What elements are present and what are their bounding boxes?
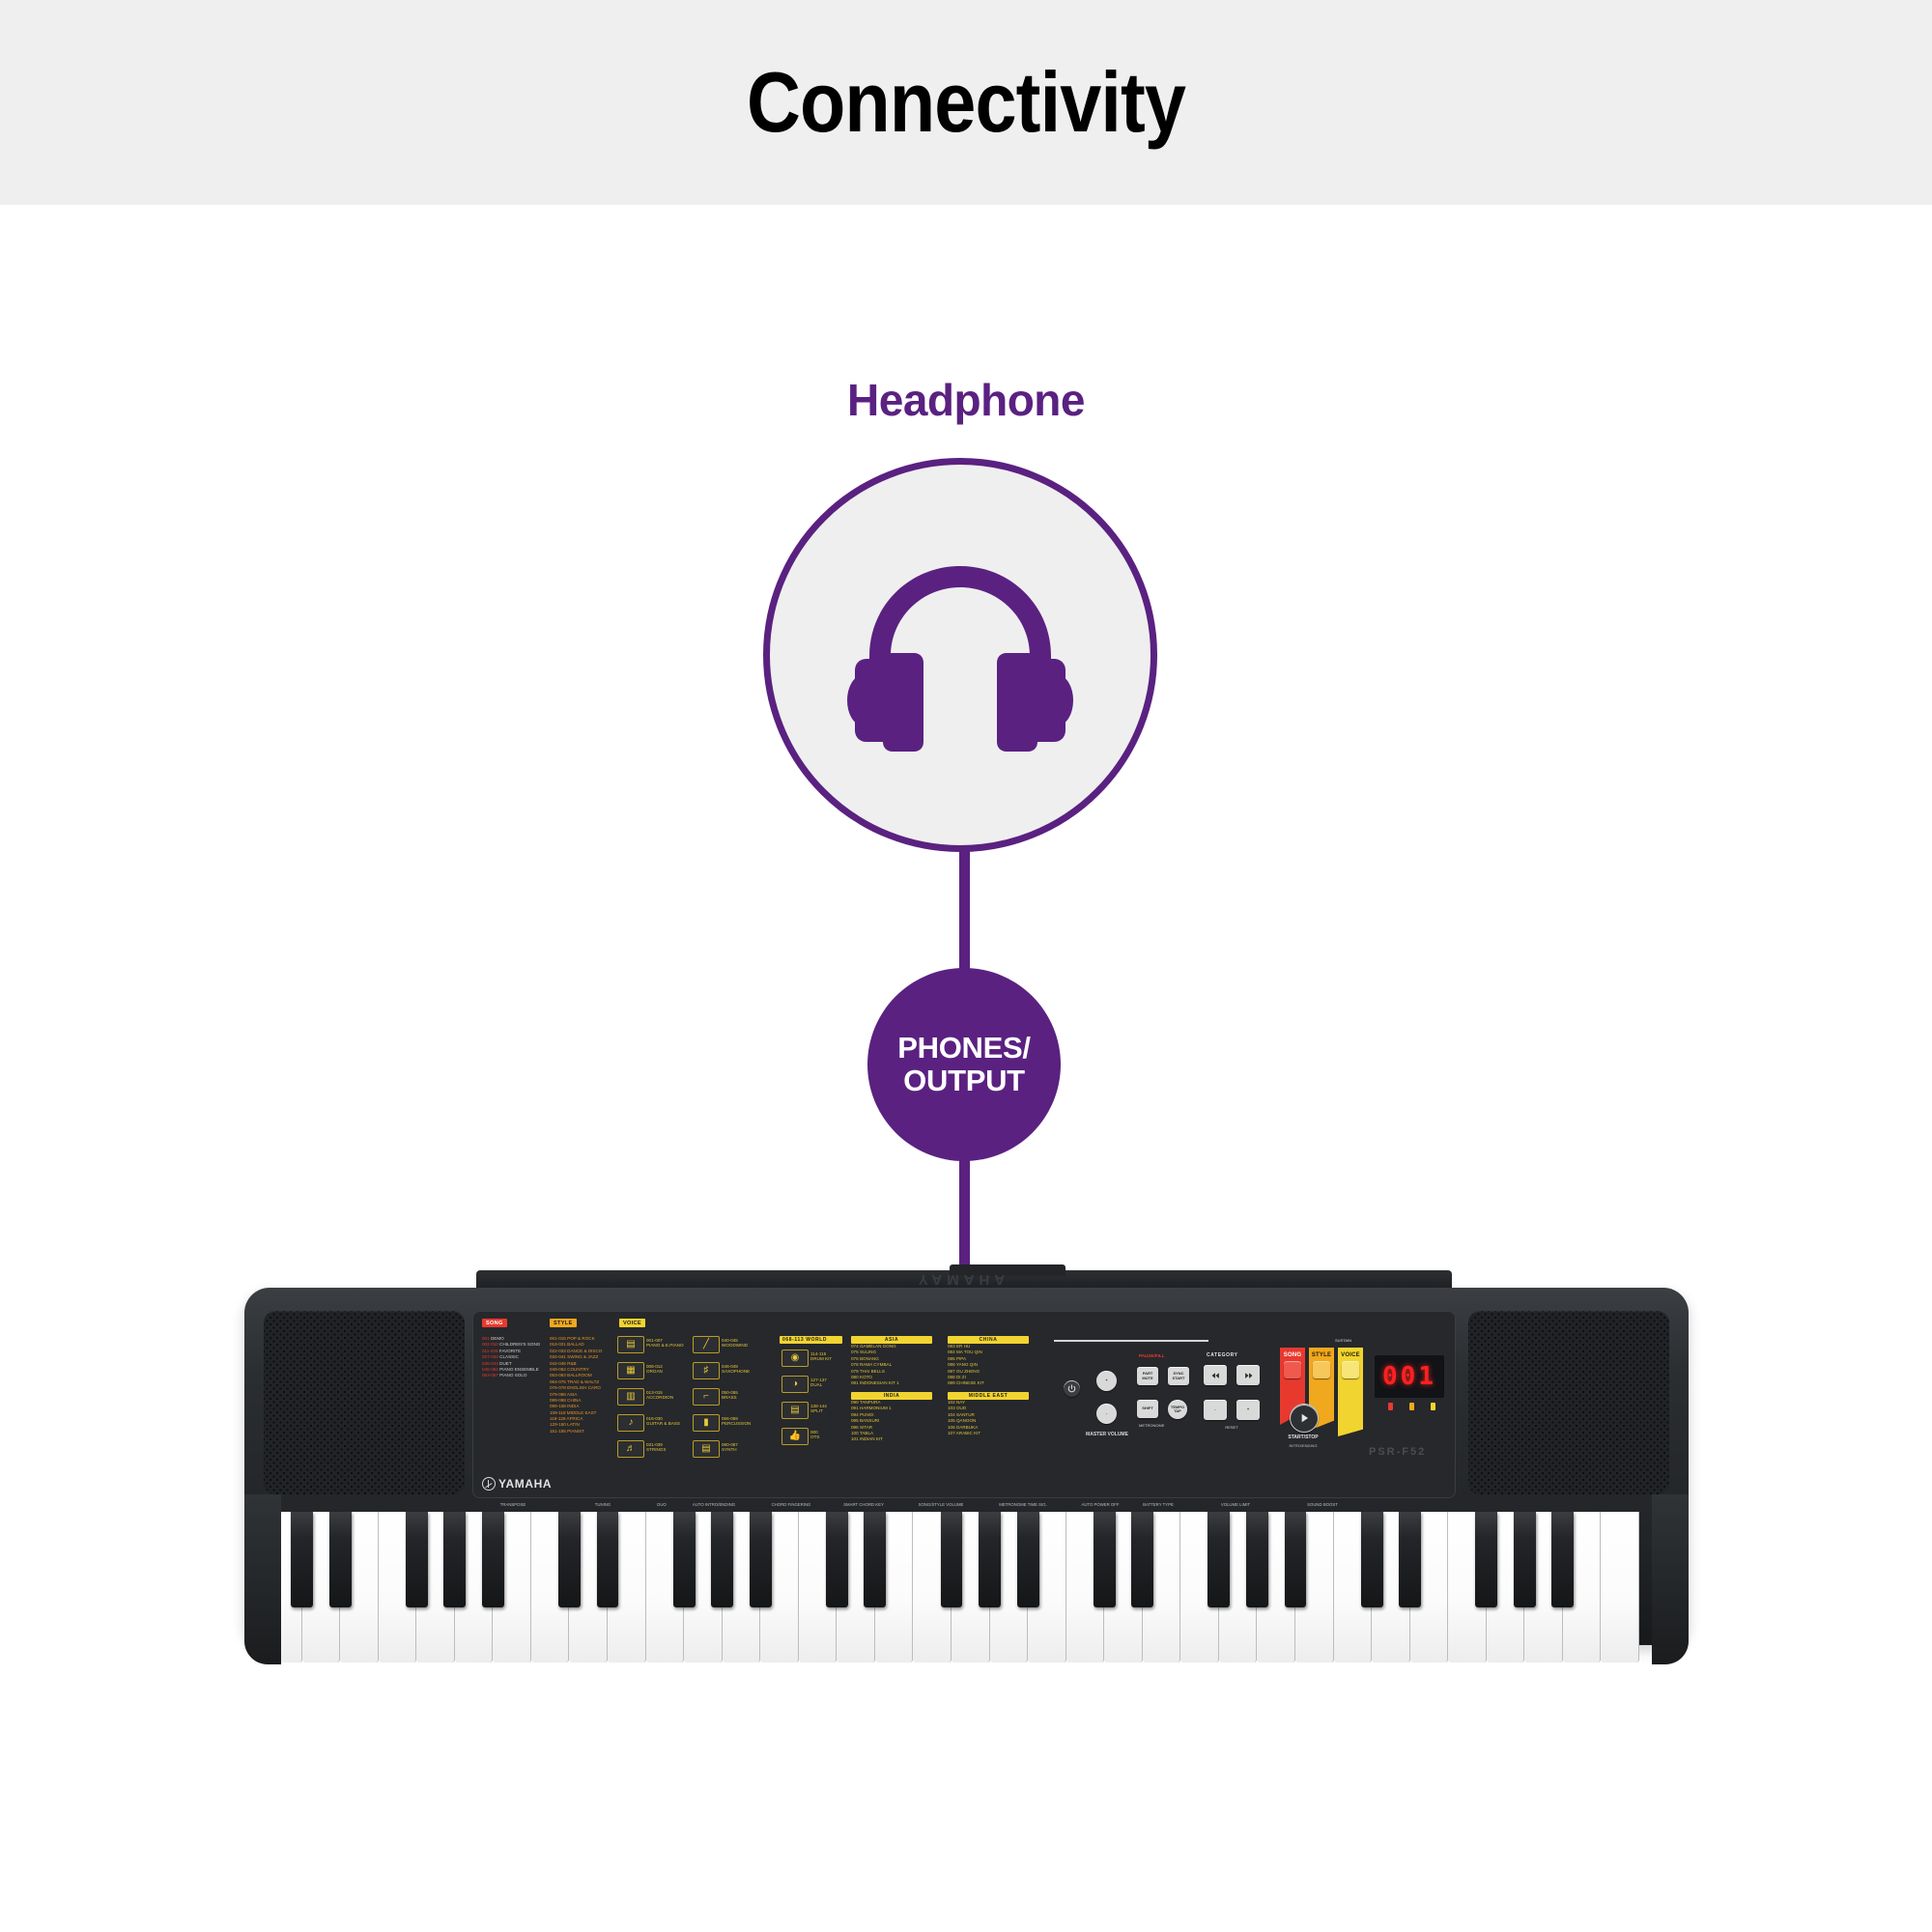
list-item-number: 053-063 <box>550 1373 566 1378</box>
world-voice-item: 089 CHINESE KIT <box>948 1380 1037 1386</box>
world-group: CHINA083 ER HU084 MA TOU QIN085 PIPA086 … <box>948 1336 1037 1387</box>
voice-category-name: ORGAN <box>646 1369 663 1374</box>
black-key[interactable] <box>750 1512 772 1607</box>
list-item-name: DEMO <box>490 1336 504 1341</box>
sync-start-button[interactable]: SYNC START <box>1168 1367 1189 1385</box>
icon-glyph: ♪ <box>629 1418 634 1428</box>
list-item-name: CLASSIC <box>498 1354 519 1359</box>
icon-glyph: ▤ <box>701 1444 710 1454</box>
list-item-number: 079-088 <box>550 1392 566 1397</box>
voice-category-label: 046-049SAXOPHONE <box>722 1364 750 1375</box>
voice-tab-label: VOICE <box>1338 1352 1363 1358</box>
world-voice-item: 107 ARABIC KIT <box>948 1431 1037 1436</box>
sustain-label: SUSTAIN <box>1335 1338 1351 1343</box>
headphone-node-circle[interactable] <box>763 458 1157 852</box>
icon-glyph: ▤ <box>626 1340 635 1350</box>
function-label: VOLUME LIMIT <box>1194 1503 1277 1508</box>
start-stop-button[interactable] <box>1290 1404 1319 1433</box>
panel-tag-voice: VOICE <box>619 1319 645 1327</box>
connectivity-diagram: Headphone PHONES/ OUTPUT YAMAHA <box>0 205 1932 1932</box>
play-icon <box>1300 1413 1309 1423</box>
black-key[interactable] <box>1207 1512 1230 1607</box>
synth-icon: ▤ <box>693 1440 720 1458</box>
voice-category-label: 031-039STRINGS <box>646 1442 666 1453</box>
led-display-value: 001 <box>1382 1362 1436 1391</box>
function-label: AUTO INTRO/ENDING <box>672 1503 755 1508</box>
black-key[interactable] <box>1131 1512 1153 1607</box>
rear-yamaha-logo: YAMAHA <box>476 1271 1452 1288</box>
list-item-number: 022-033 <box>550 1349 566 1353</box>
function-label: SMART CHORD KEY <box>822 1503 905 1508</box>
badge-line-2: OUTPUT <box>903 1065 1025 1097</box>
voice-category-label: 127-137DUAL <box>810 1378 827 1388</box>
shift-button[interactable]: SHIFT <box>1137 1400 1158 1418</box>
category-prev-button[interactable] <box>1204 1365 1227 1385</box>
drumkit-icon: ◉ <box>781 1350 809 1367</box>
thumbsup-icon: 👍 <box>781 1428 809 1445</box>
world-group-title: ASIA <box>851 1336 932 1344</box>
list-item-name: POP & ROCK <box>566 1336 595 1341</box>
power-icon <box>1067 1384 1076 1393</box>
black-key[interactable] <box>1285 1512 1307 1607</box>
black-key[interactable] <box>291 1512 313 1607</box>
accordion-icon: ▥ <box>617 1388 644 1406</box>
icon-glyph: ╱ <box>703 1340 709 1350</box>
world-group-title: CHINA <box>948 1336 1029 1344</box>
master-volume-label: MASTER VOLUME <box>1084 1433 1130 1437</box>
panel-tag-song: SONG <box>482 1319 507 1327</box>
world-group-title: INDIA <box>851 1392 932 1400</box>
voice-category-label: 001-007PIANO & E.PIANO <box>646 1338 684 1349</box>
function-label: TRANSPOSE <box>471 1503 554 1508</box>
speaker-grille-left <box>264 1311 465 1494</box>
list-item-number: 035-044 <box>482 1361 498 1366</box>
list-item-name: BALLAD <box>566 1342 584 1347</box>
white-key[interactable] <box>1601 1512 1639 1662</box>
list-item-name: PIANO SOLO <box>498 1373 527 1378</box>
voice-button[interactable] <box>1342 1361 1359 1378</box>
panel-divider <box>1054 1340 1208 1342</box>
icon-glyph: ▥ <box>626 1392 635 1402</box>
led-indicator-voice <box>1431 1403 1435 1410</box>
list-item-name: DANCE & DISCO <box>566 1349 603 1353</box>
song-button[interactable] <box>1284 1361 1301 1378</box>
voice-category-label: 000OTS <box>810 1430 819 1440</box>
keyboard-cheek-left <box>244 1494 281 1664</box>
list-item-name: COUNTRY <box>566 1367 589 1372</box>
power-button[interactable] <box>1064 1380 1080 1397</box>
voice-category-name: DUAL <box>810 1382 827 1387</box>
icon-glyph: ♯ <box>704 1366 709 1376</box>
part-mute-button[interactable]: PART MUTE <box>1137 1367 1158 1385</box>
intro-ending-label: INTRO/ENDING <box>1272 1443 1334 1448</box>
list-item-number: 034-041 <box>550 1354 566 1359</box>
black-key[interactable] <box>558 1512 581 1607</box>
icon-glyph: ▦ <box>626 1366 635 1376</box>
voice-category-name: SAXOPHONE <box>722 1369 750 1374</box>
split-icon: ▤ <box>781 1402 809 1419</box>
voice-category-name: GUITAR & BASS <box>646 1421 680 1426</box>
icon-glyph: ▮ <box>703 1418 709 1428</box>
list-item: 053-057 PIANO SOLO <box>482 1373 540 1378</box>
list-item-name: R&B <box>566 1361 577 1366</box>
style-tab-label: STYLE <box>1309 1352 1334 1358</box>
list-item-number: 045-052 <box>482 1367 498 1372</box>
black-key[interactable] <box>406 1512 428 1607</box>
list-item-name: SWING & JAZZ <box>566 1354 598 1359</box>
voice-category-name: SPLIT <box>810 1408 827 1413</box>
saxophone-icon: ♯ <box>693 1362 720 1379</box>
black-key[interactable] <box>1094 1512 1116 1607</box>
list-item-name: ENGLISH CARO <box>566 1385 601 1390</box>
icon-glyph: ♬ <box>626 1444 636 1454</box>
piano-icon: ▤ <box>617 1336 644 1353</box>
fastforward-icon <box>1244 1372 1253 1379</box>
speaker-grille-right <box>1468 1311 1669 1494</box>
list-item-number: 129-150 <box>550 1422 566 1427</box>
voice-category-name: OTS <box>810 1435 819 1439</box>
list-item-number: 089-098 <box>550 1398 566 1403</box>
headphone-node-label: Headphone <box>0 374 1932 426</box>
world-voice-item: 101 INDIAN KIT <box>851 1436 940 1442</box>
trumpet-icon: ⌐ <box>693 1388 720 1406</box>
list-item-number: 011-026 <box>482 1349 498 1353</box>
list-item-number: 076-078 <box>550 1385 566 1390</box>
badge-line-1: PHONES/ <box>897 1032 1030 1065</box>
list-item-number: 001 <box>482 1336 490 1341</box>
keyboard-body: SONG STYLE VOICE 001 DEMO002-010 CHILDRE… <box>244 1288 1689 1645</box>
list-item: 151-155 PIANIST <box>550 1429 602 1435</box>
black-key[interactable] <box>1361 1512 1383 1607</box>
voice-category-label: 040-045WOODWIND <box>722 1338 748 1349</box>
start-stop-label: START/STOP <box>1272 1435 1334 1440</box>
function-label: SOUND BOOST <box>1281 1503 1364 1508</box>
function-label: SONG/STYLE VOLUME <box>899 1503 982 1508</box>
yamaha-tuning-fork-icon <box>482 1477 496 1491</box>
led-indicator-style <box>1409 1403 1414 1410</box>
yamaha-wordmark: YAMAHA <box>498 1477 552 1491</box>
page-header: Connectivity <box>0 0 1932 205</box>
list-item-number: 119-128 <box>550 1416 566 1421</box>
list-item-number: 053-057 <box>482 1373 498 1378</box>
black-key[interactable] <box>329 1512 352 1607</box>
voice-category-label: 056-059PERCUSSION <box>722 1416 751 1427</box>
list-item-number: 027-034 <box>482 1354 498 1359</box>
violin-icon: ♬ <box>617 1440 644 1458</box>
voice-category-name: SYNTH <box>722 1447 738 1452</box>
list-item-name: MIDDLE EAST <box>566 1410 597 1415</box>
yamaha-keyboard: YAMAHA SONG STYLE VOICE 001 DEMO002-010 … <box>244 1270 1689 1697</box>
black-key[interactable] <box>941 1512 963 1607</box>
function-label: METRONOME TIME SIG. <box>981 1503 1065 1508</box>
list-item-name: FAVORITE <box>498 1349 522 1353</box>
function-label: BATTERY TYPE <box>1117 1503 1200 1508</box>
voice-category-name: PERCUSSION <box>722 1421 751 1426</box>
list-item-number: 099-108 <box>550 1404 566 1408</box>
category-label: CATEGORY <box>1207 1353 1238 1358</box>
headphone-icon <box>770 465 1151 845</box>
voice-category-name: ACCORDION <box>646 1395 673 1400</box>
list-item-number: 151-155 <box>550 1429 566 1434</box>
list-item-number: 109-118 <box>550 1410 566 1415</box>
piano-keys[interactable] <box>264 1512 1639 1662</box>
function-label: CHORD FINGERING <box>750 1503 833 1508</box>
organ-icon: ▦ <box>617 1362 644 1379</box>
value-up-button[interactable]: + <box>1236 1400 1260 1420</box>
voice-category-name: STRINGS <box>646 1447 666 1452</box>
guitar-icon: ♪ <box>617 1414 644 1432</box>
control-panel: SONG STYLE VOICE 001 DEMO002-010 CHILDRE… <box>472 1311 1456 1498</box>
world-banner: 068-113 WORLD <box>780 1336 842 1344</box>
list-item-name: PIANIST <box>566 1429 584 1434</box>
value-down-button[interactable]: - <box>1204 1400 1227 1420</box>
master-volume-down-button[interactable]: - <box>1096 1404 1117 1424</box>
icon-glyph: ▤ <box>790 1406 799 1415</box>
voice-category-label: 008-012ORGAN <box>646 1364 663 1375</box>
list-item-name: BALLROOM <box>566 1373 592 1378</box>
voice-category-name: BRASS <box>722 1395 738 1400</box>
voice-category-name: DRUM KIT <box>810 1356 832 1361</box>
voice-category-label: 016-030GUITAR & BASS <box>646 1416 680 1427</box>
black-key[interactable] <box>1017 1512 1039 1607</box>
list-item-name: AFRICA <box>566 1416 583 1421</box>
icon-glyph: ◑ <box>792 1379 798 1389</box>
flute-icon: ╱ <box>693 1336 720 1353</box>
list-item-number: 001-015 <box>550 1336 566 1341</box>
list-item-number: 064-075 <box>550 1379 566 1384</box>
icon-glyph: 👍 <box>789 1432 801 1441</box>
reset-label: RESET <box>1204 1425 1260 1430</box>
page-title: Connectivity <box>747 53 1185 152</box>
list-item-name: DUET <box>498 1361 512 1366</box>
world-voice-item: 081 INDONESIAN KIT 1 <box>851 1380 940 1386</box>
black-key[interactable] <box>979 1512 1001 1607</box>
tempo-tap-button[interactable]: TEMPO TAP <box>1168 1400 1187 1419</box>
black-key[interactable] <box>864 1512 886 1607</box>
list-item-name: CHILDREN'S SONG <box>498 1342 541 1347</box>
world-group: MIDDLE EAST102 NAY103 OUD104 SANTUR105 Q… <box>948 1392 1037 1436</box>
dual-icon: ◑ <box>781 1376 809 1393</box>
voice-category-label: 050-055BRASS <box>722 1390 738 1401</box>
black-key[interactable] <box>1246 1512 1268 1607</box>
icon-glyph: ◉ <box>791 1353 800 1363</box>
list-item-number: 042-048 <box>550 1361 566 1366</box>
yamaha-logo: YAMAHA <box>482 1477 552 1491</box>
world-group: ASIA074 GAMELAN GONG075 SULING076 BONANG… <box>851 1336 940 1387</box>
black-key[interactable] <box>826 1512 848 1607</box>
list-item-name: LATIN <box>566 1422 580 1427</box>
world-group-title: MIDDLE EAST <box>948 1392 1029 1400</box>
black-key[interactable] <box>443 1512 466 1607</box>
led-display: 001 <box>1375 1355 1444 1398</box>
voice-category-label: 138-144SPLIT <box>810 1404 827 1414</box>
rewind-icon <box>1211 1372 1220 1379</box>
voice-category-name: WOODWIND <box>722 1343 748 1348</box>
panel-tag-style: STYLE <box>550 1319 577 1327</box>
percussion-icon: ▮ <box>693 1414 720 1432</box>
voice-category-label: 060-067SYNTH <box>722 1442 738 1453</box>
black-key[interactable] <box>1399 1512 1421 1607</box>
voice-category-label: 013-015ACCORDION <box>646 1390 673 1401</box>
song-tab-label: SONG <box>1280 1352 1305 1358</box>
black-key[interactable] <box>673 1512 696 1607</box>
voice-category-label: 114-115DRUM KIT <box>810 1351 832 1362</box>
black-key[interactable] <box>711 1512 733 1607</box>
category-next-button[interactable] <box>1236 1365 1260 1385</box>
black-key[interactable] <box>1475 1512 1497 1607</box>
led-indicator-song <box>1388 1403 1393 1410</box>
style-list: 001-015 POP & ROCK016-021 BALLAD022-033 … <box>550 1336 602 1435</box>
list-item-name: PIANO ENSEMBLE <box>498 1367 539 1372</box>
song-list: 001 DEMO002-010 CHILDREN'S SONG011-026 F… <box>482 1336 540 1379</box>
black-key[interactable] <box>482 1512 504 1607</box>
keyboard-cheek-right <box>1652 1494 1689 1664</box>
metronome-label: METRONOME <box>1139 1423 1164 1428</box>
icon-glyph: ⌐ <box>703 1392 709 1402</box>
master-volume-up-button[interactable]: + <box>1096 1371 1117 1391</box>
control-panel-inner: SONG STYLE VOICE 001 DEMO002-010 CHILDRE… <box>472 1311 1456 1498</box>
voice-category-name: PIANO & E.PIANO <box>646 1343 684 1348</box>
list-item-name: TRAD & WALTZ <box>566 1379 599 1384</box>
pause-fill-label: PAUSE/FILL <box>1139 1353 1164 1358</box>
black-key[interactable] <box>597 1512 619 1607</box>
list-item-number: 002-010 <box>482 1342 498 1347</box>
list-item-name: INDIA <box>566 1404 580 1408</box>
list-item-number: 049-052 <box>550 1367 566 1372</box>
list-item-name: CHINA <box>566 1398 582 1403</box>
style-button[interactable] <box>1313 1361 1330 1378</box>
list-item-name: ASIA <box>566 1392 578 1397</box>
black-key[interactable] <box>1551 1512 1574 1607</box>
model-name: PSR-F52 <box>1369 1446 1426 1458</box>
world-group: INDIA090 TANPURA091 HARMONIUM 1094 PUNGI… <box>851 1392 940 1443</box>
list-item-number: 016-021 <box>550 1342 566 1347</box>
black-key[interactable] <box>1514 1512 1536 1607</box>
